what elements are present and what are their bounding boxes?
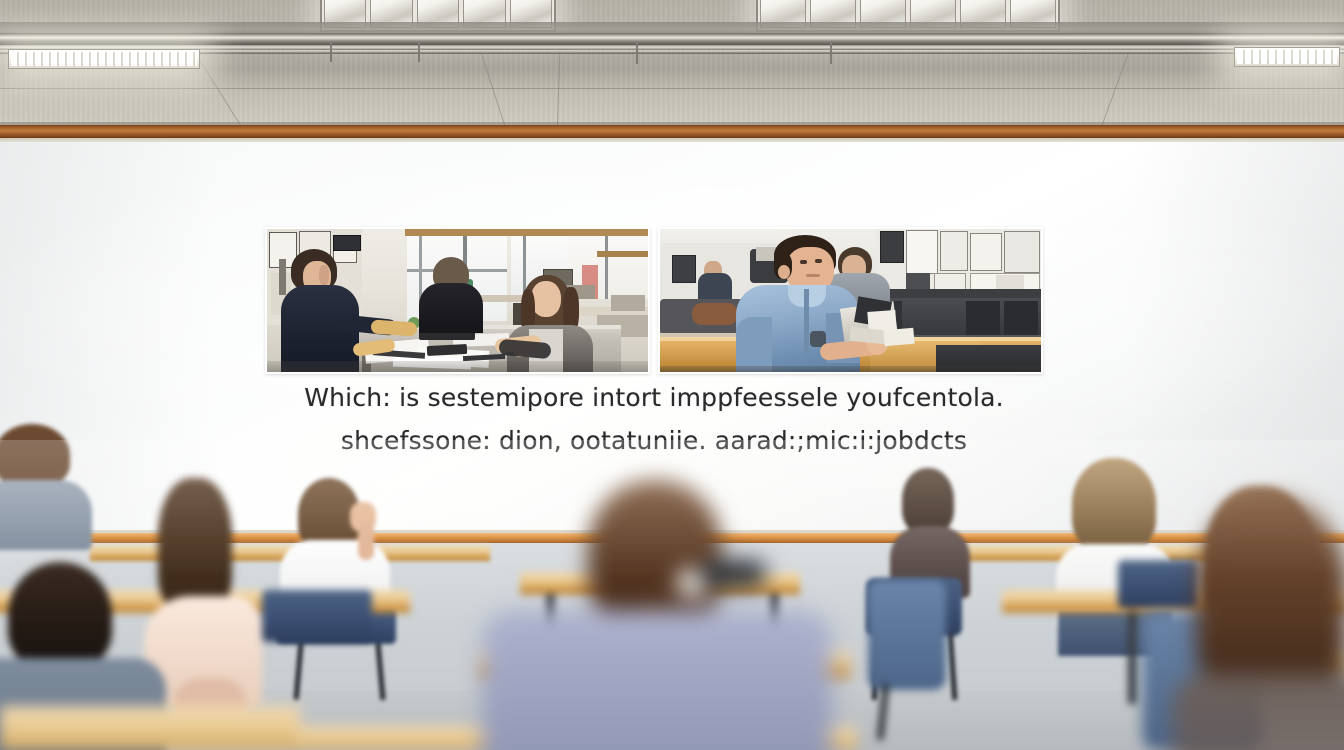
foreground-light-wash: [0, 440, 1344, 750]
classroom-scene: Which: is sestemipore intort imppfeessel…: [0, 0, 1344, 750]
classroom-audience: [0, 0, 1344, 750]
